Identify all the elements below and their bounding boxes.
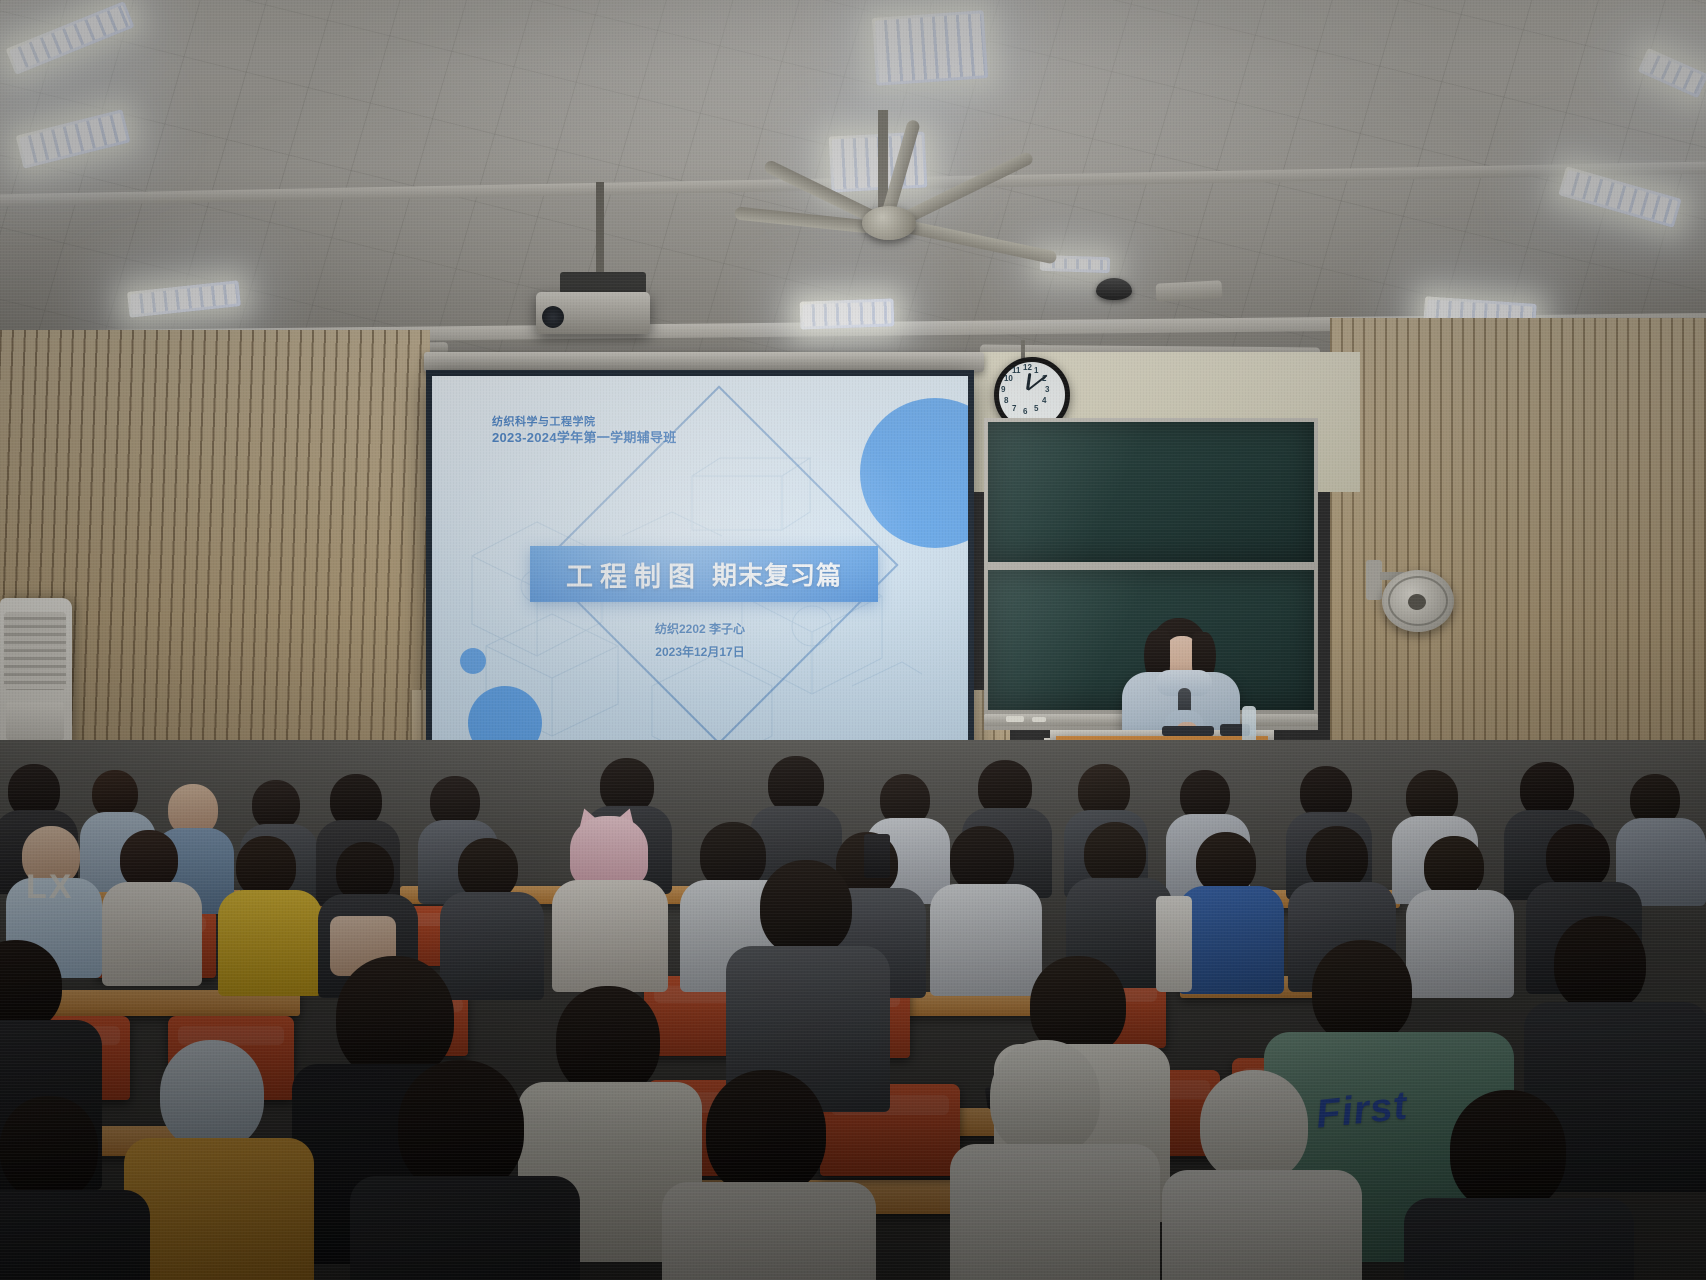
projection-screen-case	[424, 352, 984, 372]
head	[1312, 940, 1412, 1044]
clock-numeral: 4	[1042, 396, 1046, 405]
clock-numeral: 9	[1001, 385, 1005, 394]
slide-title-main: 工程制图	[566, 555, 702, 594]
torso	[1406, 890, 1514, 998]
clock-numeral: 1	[1034, 366, 1038, 375]
slide-header-line1: 纺织科学与工程学院	[492, 416, 677, 430]
slide-meta: 纺织2202 李子心 2023年12月17日	[432, 618, 968, 664]
podium-equipment	[1162, 726, 1214, 736]
head	[760, 860, 852, 956]
head	[1200, 1070, 1308, 1182]
ceiling-sensor-dome	[1096, 278, 1132, 300]
phone	[864, 834, 890, 878]
torso	[1178, 886, 1284, 994]
clock-numeral: 6	[1023, 407, 1027, 416]
ac-control-panel	[6, 702, 64, 740]
head	[120, 830, 178, 890]
clock-numeral: 7	[1012, 404, 1016, 413]
clock-numeral: 5	[1034, 404, 1038, 413]
lecture-hall-photo: 纺织科学与工程学院 2023-2024学年第一学期辅导班 工程制图 期末复习篇 …	[0, 0, 1706, 1280]
torso	[218, 890, 322, 996]
wall-fan-hub	[1408, 594, 1426, 610]
thermos	[1156, 896, 1192, 992]
head	[706, 1070, 826, 1196]
head	[1424, 836, 1484, 898]
head	[0, 1096, 98, 1200]
slide-header: 纺织科学与工程学院 2023-2024学年第一学期辅导班	[492, 416, 677, 446]
clock-numeral: 11	[1012, 366, 1020, 375]
torso	[102, 882, 202, 986]
head	[458, 838, 518, 900]
audience-area: LX First	[0, 740, 1706, 1280]
head	[990, 1040, 1100, 1156]
ac-vent	[4, 612, 66, 690]
head	[252, 780, 300, 830]
torso	[0, 1190, 150, 1280]
torso	[930, 884, 1042, 996]
projector-lens	[542, 306, 564, 328]
pink-cat-ear-hat	[570, 816, 648, 888]
head	[1546, 824, 1610, 890]
torso	[124, 1138, 314, 1280]
slide-date: 2023年12月17日	[432, 641, 968, 664]
slide-header-line2: 2023-2024学年第一学期辅导班	[492, 430, 677, 446]
head	[336, 956, 454, 1080]
torso	[662, 1182, 876, 1280]
head	[92, 770, 138, 818]
head	[160, 1040, 264, 1150]
chalk-piece	[1032, 717, 1046, 722]
blackboard-panel-upper	[988, 422, 1314, 562]
blackboard-sheen	[988, 422, 1314, 562]
torso	[1404, 1198, 1634, 1280]
ceiling-lamp	[800, 298, 895, 329]
torso	[1162, 1170, 1362, 1280]
ceiling-speaker	[1156, 280, 1223, 301]
wall-fan-base	[1366, 560, 1382, 600]
slide-title-band: 工程制图 期末复习篇	[530, 546, 878, 602]
fan-hub	[862, 206, 916, 240]
clock-numeral: 12	[1023, 363, 1032, 372]
chalk-piece	[1006, 716, 1024, 722]
projector-mount-rod	[596, 182, 604, 278]
head	[950, 826, 1014, 892]
head	[1306, 826, 1368, 890]
head	[1196, 832, 1256, 894]
desk-graffiti-text: LX	[26, 868, 73, 907]
clock-numeral: 8	[1004, 396, 1008, 405]
torso	[552, 880, 668, 992]
torso	[350, 1176, 580, 1280]
head	[1554, 916, 1646, 1012]
projector-bracket	[560, 272, 646, 294]
hoodie-brand-text: First	[1314, 1083, 1410, 1137]
head	[556, 986, 660, 1096]
clock-numeral: 10	[1004, 374, 1013, 383]
slide-title-sub: 期末复习篇	[712, 556, 842, 592]
ceiling-lamp	[872, 10, 988, 86]
head	[236, 836, 296, 898]
clock-numeral: 3	[1045, 385, 1049, 394]
torso	[440, 892, 544, 1000]
head	[398, 1060, 524, 1194]
head	[1450, 1090, 1566, 1212]
head	[336, 842, 394, 902]
head	[1084, 822, 1146, 886]
presentation-slide: 纺织科学与工程学院 2023-2024学年第一学期辅导班 工程制图 期末复习篇 …	[432, 376, 968, 768]
torso	[950, 1144, 1160, 1280]
slide-presenter: 纺织2202 李子心	[432, 618, 968, 641]
